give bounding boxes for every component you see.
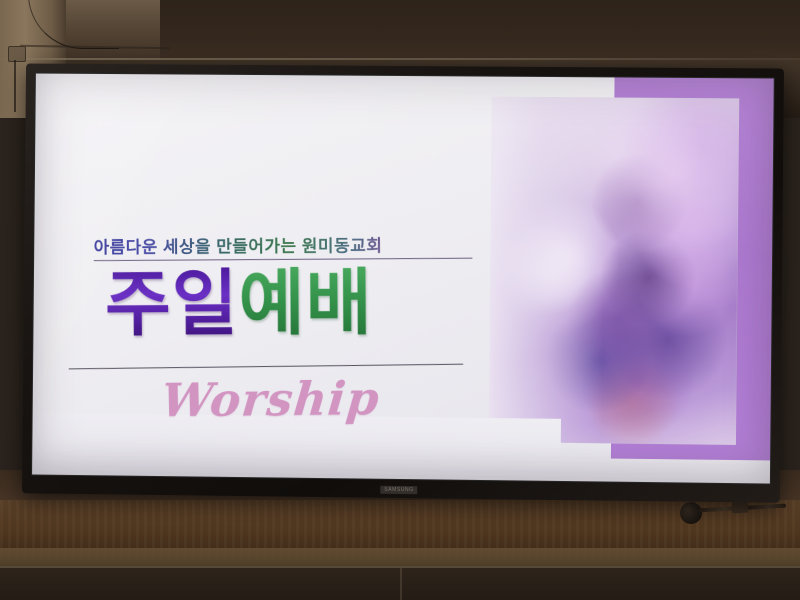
slide-title: 주일예배 xyxy=(105,268,373,341)
tv-brand-logo: SAMSUNG xyxy=(380,486,418,494)
upper-wall-shadow xyxy=(160,0,800,60)
church-tagline: 아름다운 세상을 만들어가는 원미동교회 xyxy=(94,231,473,261)
flower-photo-left-fade xyxy=(489,97,606,444)
slide-title-purple: 주일 xyxy=(105,264,239,345)
presentation-slide: 아름다운 세상을 만들어가는 원미동교회 주일예배 Worship *9시30분… xyxy=(32,74,774,484)
title-divider-line xyxy=(69,364,463,370)
cable-plug xyxy=(732,502,749,514)
tv-screen[interactable]: 아름다운 세상을 만들어가는 원미동교회 주일예배 Worship *9시30분… xyxy=(31,73,775,485)
wall-cable-vertical xyxy=(14,60,16,112)
television: 아름다운 세상을 만들어가는 원미동교회 주일예배 Worship *9시30분… xyxy=(22,64,784,503)
cable-knob xyxy=(680,502,702,524)
worship-script-text: Worship xyxy=(159,371,382,427)
room-scene: 아름다운 세상을 만들어가는 원미동교회 주일예배 Worship *9시30분… xyxy=(0,0,800,600)
floor-vertical-seam xyxy=(400,568,402,600)
ceiling-seam-line xyxy=(0,58,800,60)
lavender-flower-photo xyxy=(489,97,740,445)
slide-title-green: 예배 xyxy=(238,264,373,345)
cable-clip xyxy=(8,46,26,62)
